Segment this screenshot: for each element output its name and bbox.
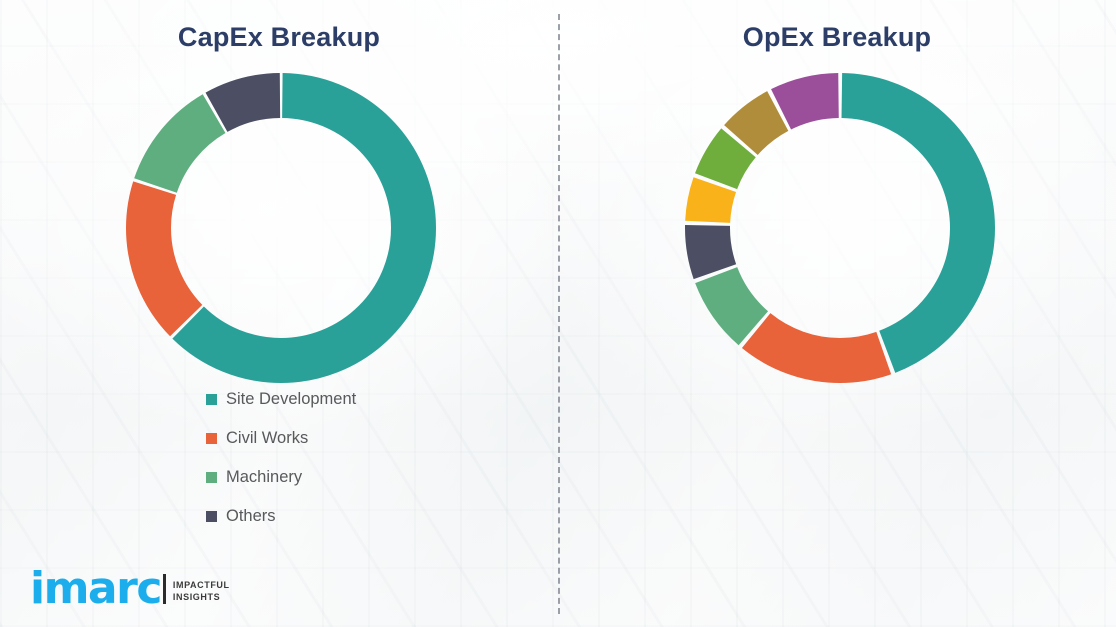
- opex-title: OpEx Breakup: [558, 22, 1116, 53]
- capex-donut-chart: [123, 70, 439, 391]
- legend-label: Machinery: [226, 469, 302, 486]
- logo-tagline: IMPACTFUL INSIGHTS: [173, 579, 230, 603]
- capex-legend: Site Development Civil Works Machinery O…: [206, 391, 356, 547]
- legend-swatch-icon: [206, 394, 217, 405]
- imarc-logo: imarc IMPACTFUL INSIGHTS: [30, 569, 230, 609]
- legend-item-civil-works[interactable]: Civil Works: [206, 430, 356, 447]
- opex-donut-svg: [682, 70, 998, 386]
- logo-wordmark: imarc: [30, 569, 161, 609]
- legend-swatch-icon: [206, 472, 217, 483]
- logo-tagline-line1: IMPACTFUL: [173, 579, 230, 591]
- opex-donut-chart: [682, 70, 998, 391]
- slide-canvas: CapEx Breakup Site Development Civil Wor…: [0, 0, 1116, 627]
- legend-label: Others: [226, 508, 276, 525]
- legend-item-machinery[interactable]: Machinery: [206, 469, 356, 486]
- capex-donut-svg: [123, 70, 439, 386]
- capex-title: CapEx Breakup: [0, 22, 558, 53]
- legend-swatch-icon: [206, 433, 217, 444]
- legend-label: Site Development: [226, 391, 356, 408]
- legend-item-site-development[interactable]: Site Development: [206, 391, 356, 408]
- logo-divider-icon: [163, 574, 166, 604]
- legend-swatch-icon: [206, 511, 217, 522]
- legend-item-others[interactable]: Others: [206, 508, 356, 525]
- legend-label: Civil Works: [226, 430, 308, 447]
- logo-tagline-line2: INSIGHTS: [173, 591, 230, 603]
- opex-panel: OpEx Breakup Raw Materials Salaries and …: [558, 0, 1116, 627]
- capex-panel: CapEx Breakup Site Development Civil Wor…: [0, 0, 558, 627]
